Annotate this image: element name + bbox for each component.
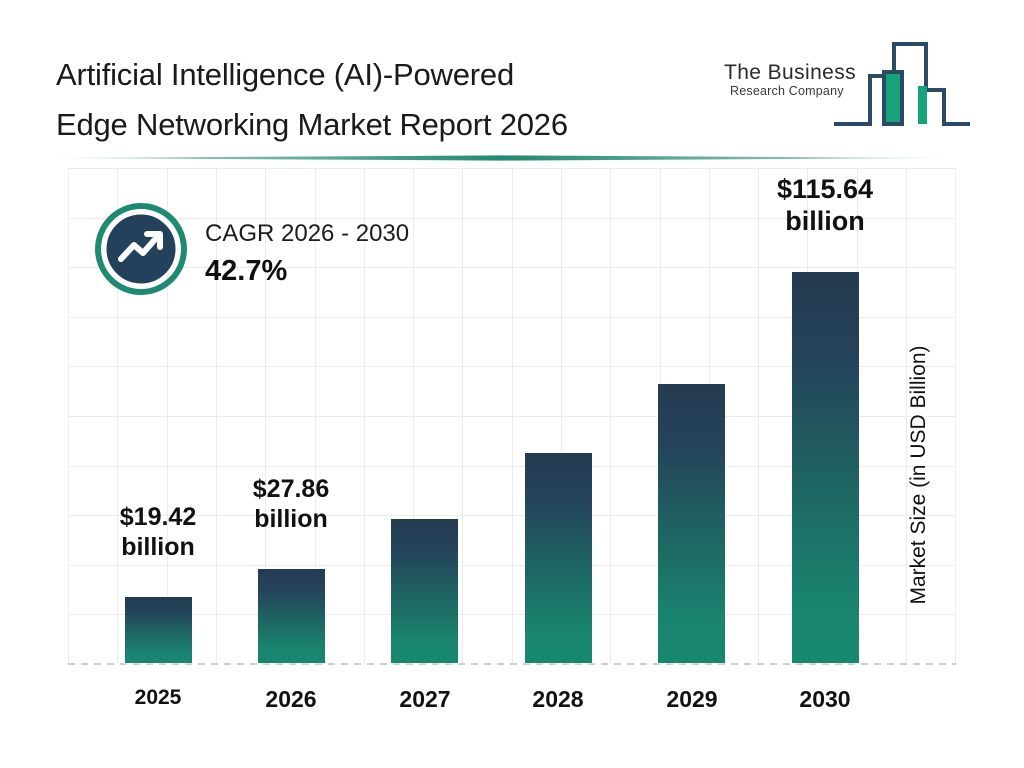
x-tick-2026: 2026 xyxy=(221,686,361,713)
x-axis-baseline xyxy=(68,663,956,665)
bar-2025[interactable] xyxy=(125,597,192,663)
x-tick-2025: 2025 xyxy=(88,686,228,710)
cagr-period-label: CAGR 2026 - 2030 xyxy=(205,217,409,251)
y-axis-title-text: Market Size (in USD Billion) xyxy=(907,275,931,675)
cagr-value-label: 42.7% xyxy=(205,251,409,291)
page-title: Artificial Intelligence (AI)-Powered Edg… xyxy=(56,50,716,150)
gridline-vertical xyxy=(758,168,759,664)
cagr-text-block: CAGR 2026 - 2030 42.7% xyxy=(205,217,409,291)
header: Artificial Intelligence (AI)-Powered Edg… xyxy=(0,0,1024,150)
cagr-callout: CAGR 2026 - 2030 42.7% xyxy=(95,203,515,303)
x-tick-2030: 2030 xyxy=(755,686,895,713)
gridline-vertical xyxy=(610,168,611,664)
gridline-vertical xyxy=(955,168,956,664)
chart-page: Artificial Intelligence (AI)-Powered Edg… xyxy=(0,0,1024,768)
y-axis-title: Market Size (in USD Billion) xyxy=(889,0,913,275)
trending-up-icon xyxy=(95,203,187,295)
bar-value-label-2026: $27.86 billion xyxy=(196,475,386,534)
x-tick-2028: 2028 xyxy=(488,686,628,713)
bar-2026[interactable] xyxy=(258,569,325,663)
title-divider xyxy=(42,155,962,161)
bar-2029[interactable] xyxy=(658,384,725,663)
bar-2030[interactable] xyxy=(792,272,859,663)
x-tick-2027: 2027 xyxy=(355,686,495,713)
x-tick-2029: 2029 xyxy=(622,686,762,713)
brand-logo: The Business Research Company xyxy=(724,32,972,132)
gridline-vertical xyxy=(68,168,69,664)
bar-2027[interactable] xyxy=(391,519,458,663)
bar-2028[interactable] xyxy=(525,453,592,663)
